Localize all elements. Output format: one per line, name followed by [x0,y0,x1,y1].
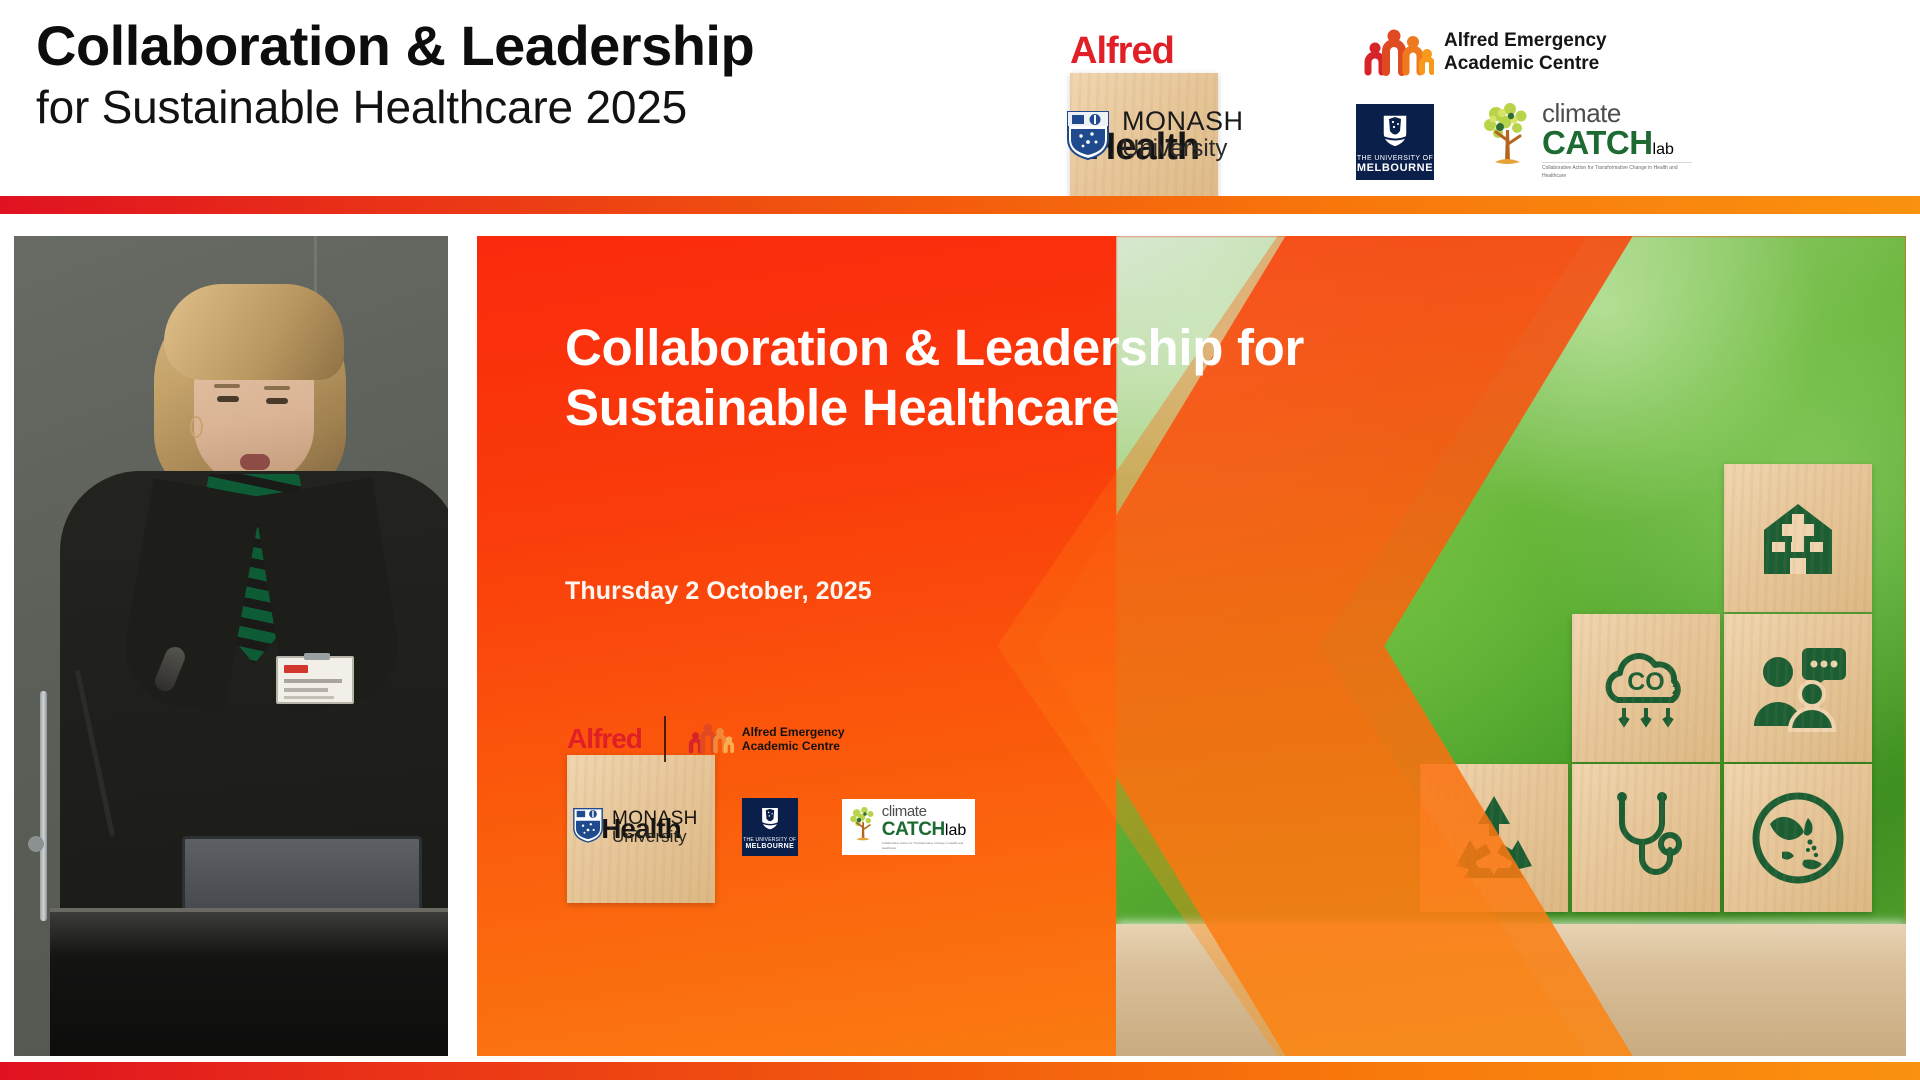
slide-catch-word-climate: climate [882,803,927,820]
monash-shield-icon [1064,109,1112,161]
name-badge-line-3 [284,696,334,699]
header-logo-row-2: MONASH University THE UNIVERSITY OF MELB… [1040,104,1900,182]
slide-title: Collaboration & Leadership for Sustainab… [565,318,1305,437]
name-badge-line-2 [284,688,328,692]
aeac-line1: Alfred Emergency [1444,30,1607,51]
globe-block [1724,764,1872,912]
climate-catch-lab-logo: climate CATCHlab Collaborative Action fo… [1480,100,1692,180]
slide-logo-row-2: MONASH University THE UNIVERSITY OF [571,798,975,856]
speaker-video-panel[interactable] [14,236,448,1056]
content-stage: CO 2 [0,214,1920,1062]
slide-melbourne-logo: THE UNIVERSITY OF MELBOURNE [742,798,798,856]
aeac-people-icon [1364,22,1434,83]
wall-knob [28,836,44,852]
slide-alfred-health-red: Alfred [567,723,642,754]
slide-aeac-line2: Academic Centre [742,739,840,753]
melbourne-line1: THE UNIVERSITY OF [1357,155,1433,162]
svg-text:CO: CO [1627,668,1665,696]
slide-logo-divider [664,716,666,762]
slide-catch-tree-icon [848,804,882,851]
hospital-icon [1750,490,1846,586]
name-badge-line-1 [284,679,342,683]
slide-text-block: Collaboration & Leadership for Sustainab… [565,236,1345,1056]
alfred-health-logo: AlfredHealth [1070,30,1174,73]
slide-aeac-logo: Alfred Emergency Academic Centre [688,719,845,760]
alfred-health-logo-red: Alfred [1070,30,1174,72]
header-title-group: Collaboration & Leadership for Sustainab… [36,16,754,134]
slide-melbourne-crest-icon [756,804,784,837]
catch-logo-text: climate CATCHlab Collaborative Action fo… [1542,100,1692,180]
name-badge-logo-mark [284,665,308,673]
slide-monash-logo: MONASH University [571,806,698,849]
slide-catch-word-lab: lab [945,822,966,839]
header-logo-row-1: AlfredHealth [1040,16,1900,86]
melbourne-line2: MELBOURNE [1357,162,1433,174]
slide-catch-tagline: Collaborative Action for Transformative … [882,841,972,850]
speaker-name-badge [276,656,354,704]
co2-block: CO 2 [1572,614,1720,762]
presentation-slide[interactable]: CO 2 [477,236,1906,1056]
melbourne-crest-icon [1375,110,1415,155]
slide-monash-shield-icon [571,806,605,849]
slide-monash-line1: MONASH [612,809,698,828]
stethoscope-block [1572,764,1720,912]
slide-logo-row-1: AlfredHealth [567,716,845,762]
speaker-mouth [240,454,270,470]
page-title-line1: Collaboration & Leadership [36,16,754,76]
page-header: Collaboration & Leadership for Sustainab… [0,0,1920,196]
people-block [1724,614,1872,762]
slide-aeac-people-icon [688,719,734,760]
hospital-block [1724,464,1872,612]
wall-rail [40,691,47,921]
header-logo-cluster: AlfredHealth [1040,8,1900,180]
speaker-eye-right [266,398,288,404]
aeac-line2: Academic Centre [1444,53,1599,74]
gradient-divider-top [0,196,1920,214]
university-of-melbourne-logo: THE UNIVERSITY OF MELBOURNE [1356,104,1434,180]
slide-aeac-line1: Alfred Emergency [742,725,845,739]
monash-line2: University [1122,137,1244,161]
slide-catch-text: climate CATCHlab Collaborative Action fo… [882,804,972,850]
slide-melbourne-line2: MELBOURNE [745,843,794,850]
monash-logo-text: MONASH University [1122,108,1244,161]
speaker-eye-left [217,396,239,402]
catch-word-catch: CATCH [1542,124,1653,161]
aeac-logo-text: Alfred Emergency Academic Centre [1444,30,1607,75]
people-talking-icon [1746,642,1850,734]
catch-word-lab: lab [1653,141,1674,158]
slide-monash-line2: University [612,828,698,846]
catch-tagline: Collaborative Action for Transformative … [1542,162,1692,180]
monash-university-logo: MONASH University [1064,108,1244,161]
speaker-eyebrow-left [214,384,240,388]
slide-catch-word-catch: CATCH [882,819,945,840]
speaker-eyebrow-right [264,386,290,390]
slide-climate-catch-logo: climate CATCHlab Collaborative Action fo… [842,799,975,855]
catch-tree-icon [1480,100,1542,177]
slide-monash-text: MONASH University [612,809,698,846]
speaker-ear [190,416,203,438]
name-badge-clip [304,653,330,660]
lectern [50,912,448,1056]
monash-line1: MONASH [1122,108,1244,135]
slide-alfred-health-logo: AlfredHealth [567,723,642,755]
alfred-emergency-academic-centre-logo: Alfred Emergency Academic Centre [1364,22,1607,83]
page-title-line2: for Sustainable Healthcare 2025 [36,80,754,134]
slide-date: Thursday 2 October, 2025 [565,577,872,606]
co2-cloud-icon: CO 2 [1594,642,1698,734]
svg-text:2: 2 [1672,681,1680,698]
gradient-divider-bottom [0,1062,1920,1080]
speaker-hair-front [164,284,344,380]
slide-aeac-text: Alfred Emergency Academic Centre [742,725,845,754]
stethoscope-icon [1598,788,1694,888]
globe-icon [1748,788,1848,888]
